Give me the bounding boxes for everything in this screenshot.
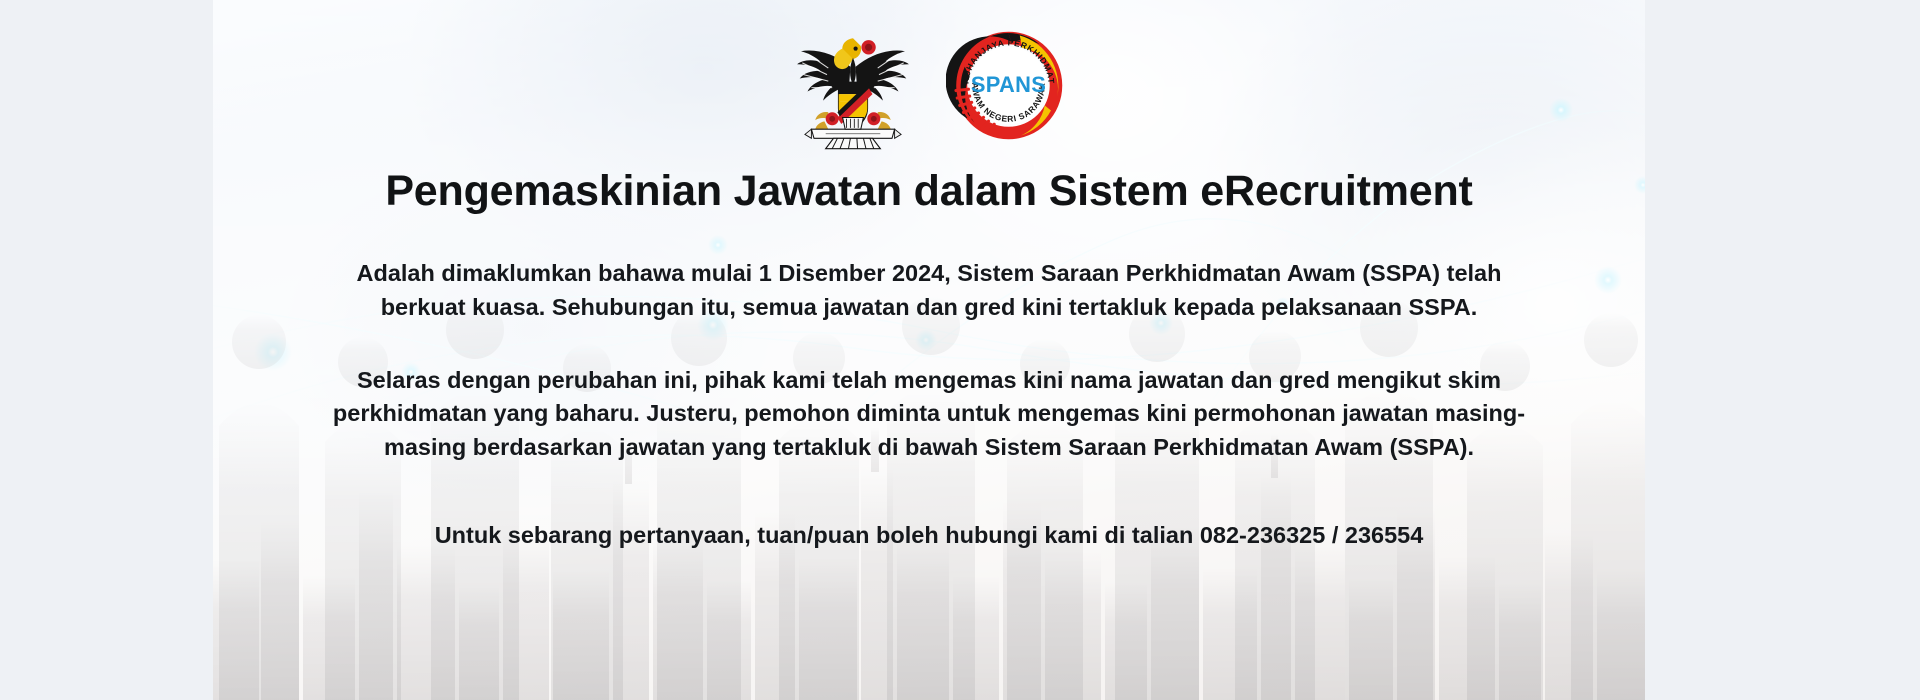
announcement-banner: SURUHANJAYA PERKHIDMATAN AWAM NEGERI SAR…: [213, 0, 1645, 700]
announcement-paragraph-2: Selaras dengan perubahan ini, pihak kami…: [314, 364, 1544, 464]
contact-line: Untuk sebarang pertanyaan, tuan/puan bol…: [213, 522, 1645, 549]
page-root: SURUHANJAYA PERKHIDMATAN AWAM NEGERI SAR…: [0, 0, 1920, 700]
spans-acronym-text: SPANS: [970, 71, 1045, 96]
announcement-paragraph-1: Adalah dimaklumkan bahawa mulai 1 Disemb…: [339, 257, 1519, 324]
spans-logo-icon: SURUHANJAYA PERKHIDMATAN AWAM NEGERI SAR…: [946, 23, 1071, 148]
logo-row: SURUHANJAYA PERKHIDMATAN AWAM NEGERI SAR…: [213, 0, 1645, 150]
page-title: Pengemaskinian Jawatan dalam Sistem eRec…: [213, 168, 1645, 215]
banner-content: SURUHANJAYA PERKHIDMATAN AWAM NEGERI SAR…: [213, 0, 1645, 700]
sarawak-state-crest-icon: [788, 20, 918, 150]
